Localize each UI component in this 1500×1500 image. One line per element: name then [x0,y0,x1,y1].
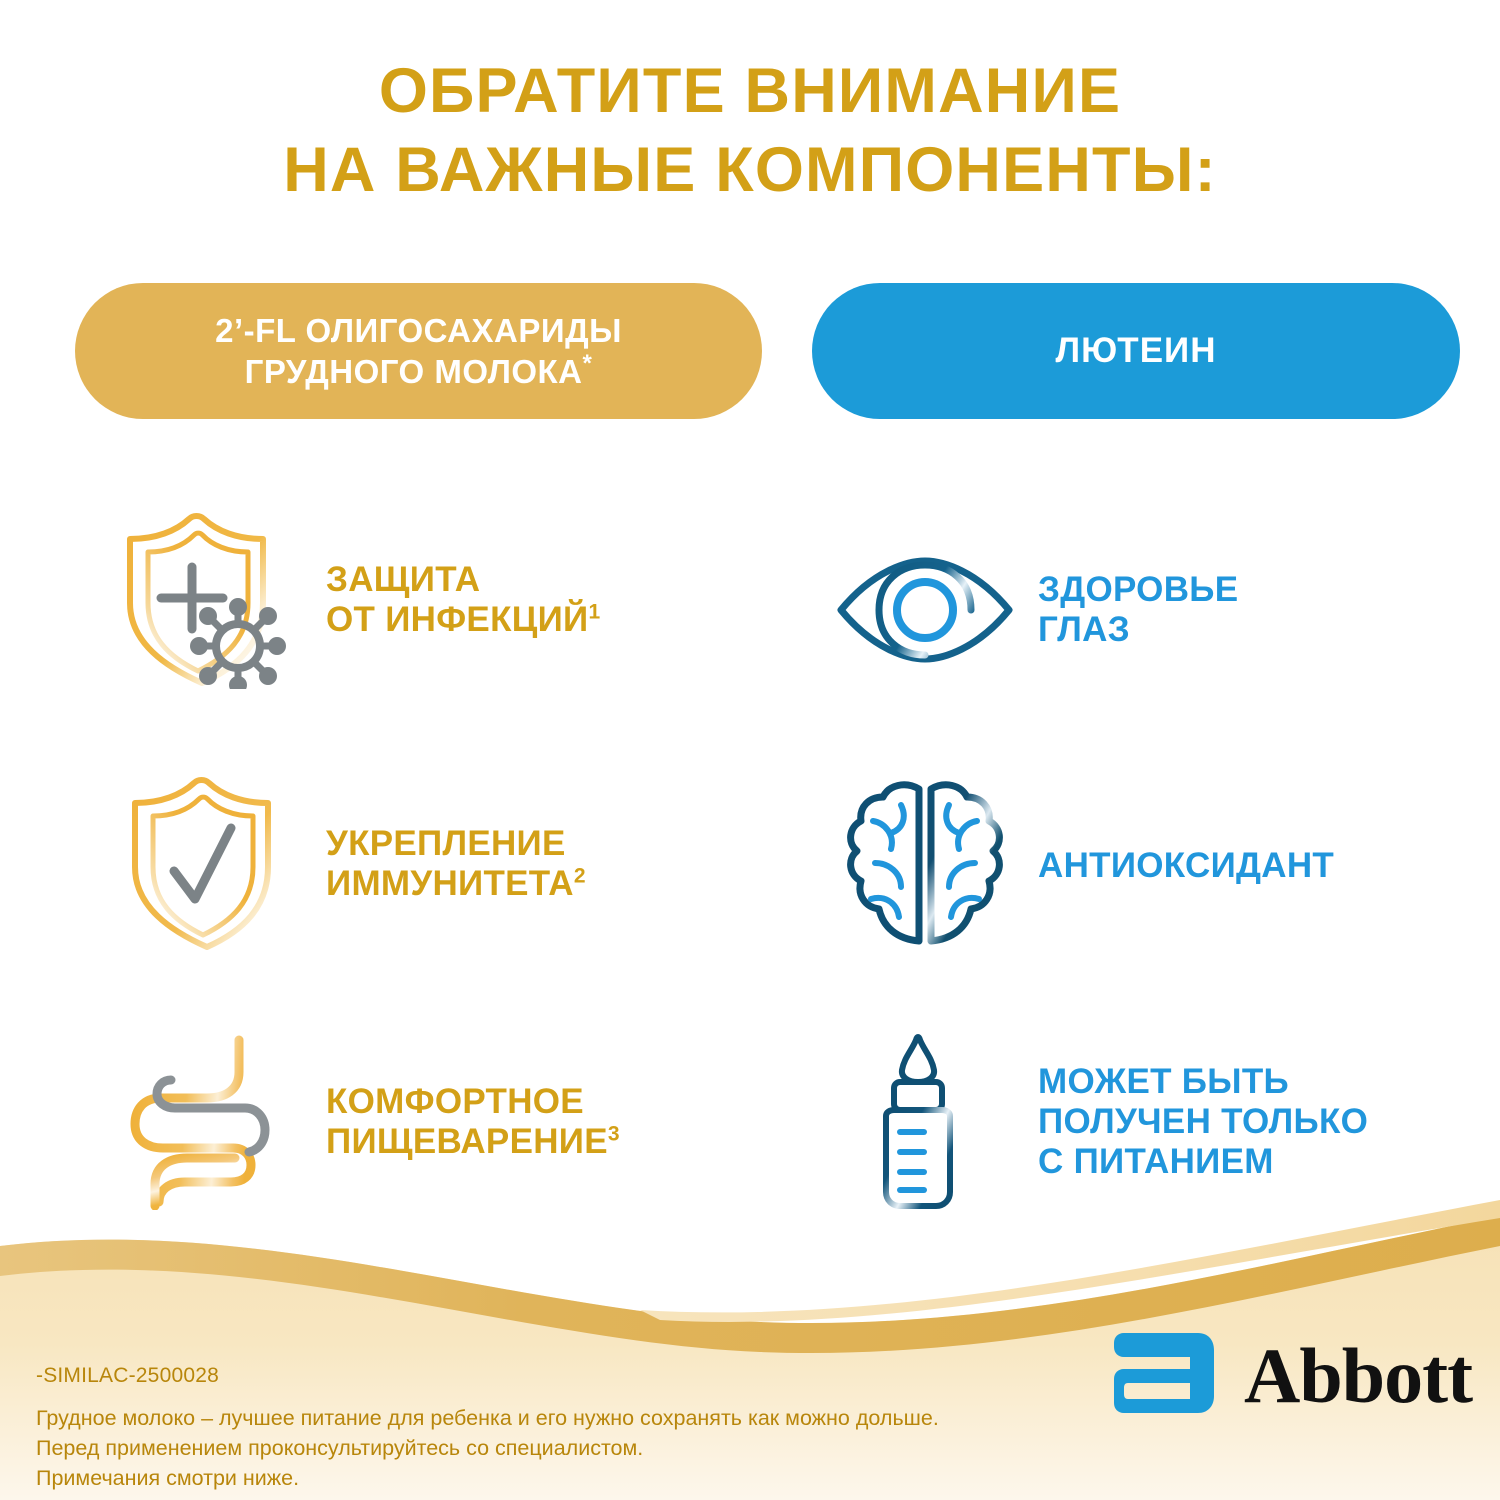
disclaimer-text: Грудное молоко – лучшее питание для ребе… [36,1403,939,1493]
footnote-marker: 3 [608,1122,620,1145]
feature-immunity-strengthening: УКРЕПЛЕНИЕ ИММУНИТЕТА2 [112,740,812,988]
pill-left-text: 2’-FL ОЛИГОСАХАРИДЫ ГРУДНОГО МОЛОКА* [215,310,622,392]
intestine-icon [112,1027,302,1217]
feature-label: УКРЕПЛЕНИЕ ИММУНИТЕТА2 [326,824,586,904]
shield-check-icon [112,769,302,959]
features-column-hmo: ЗАЩИТА ОТ ИНФЕКЦИЙ1 [112,468,812,1246]
asterisk-marker: * [583,350,593,377]
feature-eye-health: ЗДОРОВЬЕ ГЛАЗ [830,486,1500,734]
feature-label: МОЖЕТ БЫТЬ ПОЛУЧЕН ТОЛЬКО С ПИТАНИЕМ [1038,1062,1368,1182]
feature-label-line-2: ОТ ИНФЕКЦИЙ [326,600,589,639]
feature-label-line-1: АНТИОКСИДАНТ [1038,846,1334,885]
feature-label: ЗАЩИТА ОТ ИНФЕКЦИЙ1 [326,560,601,640]
feature-label: АНТИОКСИДАНТ [1038,846,1334,886]
feature-antioxidant: АНТИОКСИДАНТ [830,742,1500,990]
material-code: -SIMILAC-2500028 [36,1364,219,1388]
title-line-2: НА ВАЖНЫЕ КОМПОНЕНТЫ: [0,131,1500,210]
feature-label: ЗДОРОВЬЕ ГЛАЗ [1038,570,1238,650]
feature-label-line-2: ИММУНИТЕТА [326,864,574,903]
page-title: ОБРАТИТЕ ВНИМАНИЕ НА ВАЖНЫЕ КОМПОНЕНТЫ: [0,52,1500,210]
feature-label-line-2: ГЛАЗ [1038,610,1130,649]
feature-label-line-1: УКРЕПЛЕНИЕ [326,824,566,863]
pill-right-label: ЛЮТЕИН [1056,331,1217,371]
feature-label-line-2: ПИЩЕВАРЕНИЕ [326,1122,608,1161]
pill-left-line-1: 2’-FL ОЛИГОСАХАРИДЫ [215,312,622,349]
feature-label-line-1: КОМФОРТНОЕ [326,1082,584,1121]
feature-label-line-3: С ПИТАНИЕМ [1038,1142,1274,1181]
pill-hmo-oligosaccharides[interactable]: 2’-FL ОЛИГОСАХАРИДЫ ГРУДНОГО МОЛОКА* [75,283,762,419]
feature-label-line-1: ЗДОРОВЬЕ [1038,570,1238,609]
features-column-lutein: ЗДОРОВЬЕ ГЛАЗ [830,468,1500,1246]
eye-icon [830,515,1020,705]
brain-icon [830,771,1020,961]
abbott-symbol-icon [1112,1327,1220,1424]
feature-label-line-1: ЗАЩИТА [326,560,480,599]
title-line-1: ОБРАТИТЕ ВНИМАНИЕ [0,52,1500,131]
feature-label: КОМФОРТНОЕ ПИЩЕВАРЕНИЕ3 [326,1082,620,1162]
pill-lutein[interactable]: ЛЮТЕИН [812,283,1460,419]
shield-plus-virus-icon [112,505,302,695]
feature-label-line-1: МОЖЕТ БЫТЬ [1038,1062,1289,1101]
pill-left-line-2: ГРУДНОГО МОЛОКА [245,353,583,390]
feature-protection-from-infections: ЗАЩИТА ОТ ИНФЕКЦИЙ1 [112,476,812,724]
abbott-logo: Abbott [1112,1327,1472,1424]
infographic-page: ОБРАТИТЕ ВНИМАНИЕ НА ВАЖНЫЕ КОМПОНЕНТЫ: … [0,0,1500,1500]
footnote-marker: 1 [589,600,601,623]
abbott-wordmark: Abbott [1244,1337,1472,1415]
feature-label-line-2: ПОЛУЧЕН ТОЛЬКО [1038,1102,1368,1141]
footnote-marker: 2 [574,864,586,887]
baby-bottle-icon [830,1027,1020,1217]
